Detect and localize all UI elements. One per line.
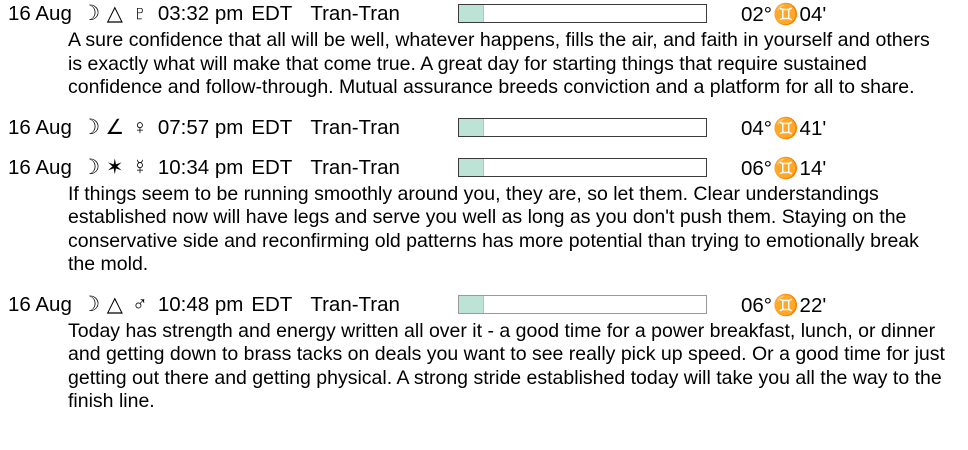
transit-date: 16 Aug bbox=[8, 0, 72, 28]
mars-glyph: ♂ bbox=[128, 292, 152, 318]
trine-aspect-glyph: △ bbox=[102, 292, 128, 318]
transit-interpretation: A sure confidence that all will be well,… bbox=[0, 29, 968, 100]
orb-progress-fill bbox=[459, 119, 484, 136]
position-minute: 14' bbox=[800, 157, 827, 180]
transit-entry: 16 Aug ☽ ∠ ♀ 07:57 pm EDT Tran-Tran 04°♊… bbox=[0, 114, 968, 142]
transit-position: 02°♊04' bbox=[741, 3, 826, 27]
orb-progress-bar[interactable] bbox=[458, 295, 707, 314]
transit-timezone: EDT bbox=[251, 114, 292, 142]
venus-glyph: ♀ bbox=[128, 115, 152, 141]
position-degree: 06° bbox=[741, 294, 772, 317]
transit-kind-label: Tran-Tran bbox=[310, 291, 400, 319]
moon-glyph: ☽ bbox=[80, 1, 102, 27]
transit-kind-label: Tran-Tran bbox=[310, 0, 400, 28]
gemini-sign-glyph: ♊ bbox=[772, 3, 800, 27]
spacer bbox=[0, 142, 968, 154]
orb-progress-fill bbox=[459, 5, 484, 22]
pluto-glyph: ♇ bbox=[128, 1, 152, 27]
moon-glyph: ☽ bbox=[80, 155, 102, 181]
position-degree: 02° bbox=[741, 3, 772, 26]
transit-date: 16 Aug bbox=[8, 154, 72, 182]
semisquare-aspect-glyph: ∠ bbox=[102, 115, 128, 141]
gemini-sign-glyph: ♊ bbox=[772, 117, 800, 141]
moon-glyph: ☽ bbox=[80, 115, 102, 141]
transit-timezone: EDT bbox=[251, 0, 292, 28]
position-minute: 41' bbox=[800, 117, 827, 140]
position-minute: 22' bbox=[800, 294, 827, 317]
position-degree: 04° bbox=[741, 117, 772, 140]
transit-entry: 16 Aug ☽ △ ♇ 03:32 pm EDT Tran-Tran 02°♊… bbox=[0, 0, 968, 100]
orb-progress-bar[interactable] bbox=[458, 158, 707, 177]
spacer bbox=[0, 100, 968, 114]
transit-list-page: 16 Aug ☽ △ ♇ 03:32 pm EDT Tran-Tran 02°♊… bbox=[0, 0, 968, 450]
orb-progress-bar[interactable] bbox=[458, 118, 707, 137]
position-degree: 06° bbox=[741, 157, 772, 180]
transit-position: 06°♊22' bbox=[741, 294, 826, 318]
gemini-sign-glyph: ♊ bbox=[772, 157, 800, 181]
transit-kind-label: Tran-Tran bbox=[310, 114, 400, 142]
trine-aspect-glyph: △ bbox=[102, 1, 128, 27]
transit-time: 10:34 pm bbox=[158, 154, 243, 182]
transit-interpretation: If things seem to be running smoothly ar… bbox=[0, 183, 968, 277]
transit-date: 16 Aug bbox=[8, 114, 72, 142]
transit-timezone: EDT bbox=[251, 154, 292, 182]
transit-date: 16 Aug bbox=[8, 291, 72, 319]
aspect-glyph-group: ☽ ✶ ☿ bbox=[80, 155, 152, 181]
aspect-glyph-group: ☽ △ ♇ bbox=[80, 1, 152, 27]
aspect-glyph-group: ☽ △ ♂ bbox=[80, 292, 152, 318]
sextile-aspect-glyph: ✶ bbox=[102, 155, 128, 181]
transit-position: 06°♊14' bbox=[741, 157, 826, 181]
transit-time: 03:32 pm bbox=[158, 0, 243, 28]
transit-position: 04°♊41' bbox=[741, 117, 826, 141]
transit-timezone: EDT bbox=[251, 291, 292, 319]
gemini-sign-glyph: ♊ bbox=[772, 294, 800, 318]
orb-progress-fill bbox=[459, 159, 484, 176]
transit-entry: 16 Aug ☽ △ ♂ 10:48 pm EDT Tran-Tran 06°♊… bbox=[0, 291, 968, 414]
mercury-glyph: ☿ bbox=[128, 155, 152, 181]
transit-entry: 16 Aug ☽ ✶ ☿ 10:34 pm EDT Tran-Tran 06°♊… bbox=[0, 154, 968, 277]
orb-progress-bar[interactable] bbox=[458, 4, 707, 23]
position-minute: 04' bbox=[800, 3, 827, 26]
orb-progress-fill bbox=[459, 296, 484, 313]
transit-interpretation: Today has strength and energy written al… bbox=[0, 320, 968, 414]
transit-time: 10:48 pm bbox=[158, 291, 243, 319]
aspect-glyph-group: ☽ ∠ ♀ bbox=[80, 115, 152, 141]
transit-time: 07:57 pm bbox=[158, 114, 243, 142]
moon-glyph: ☽ bbox=[80, 292, 102, 318]
transit-kind-label: Tran-Tran bbox=[310, 154, 400, 182]
spacer bbox=[0, 277, 968, 291]
